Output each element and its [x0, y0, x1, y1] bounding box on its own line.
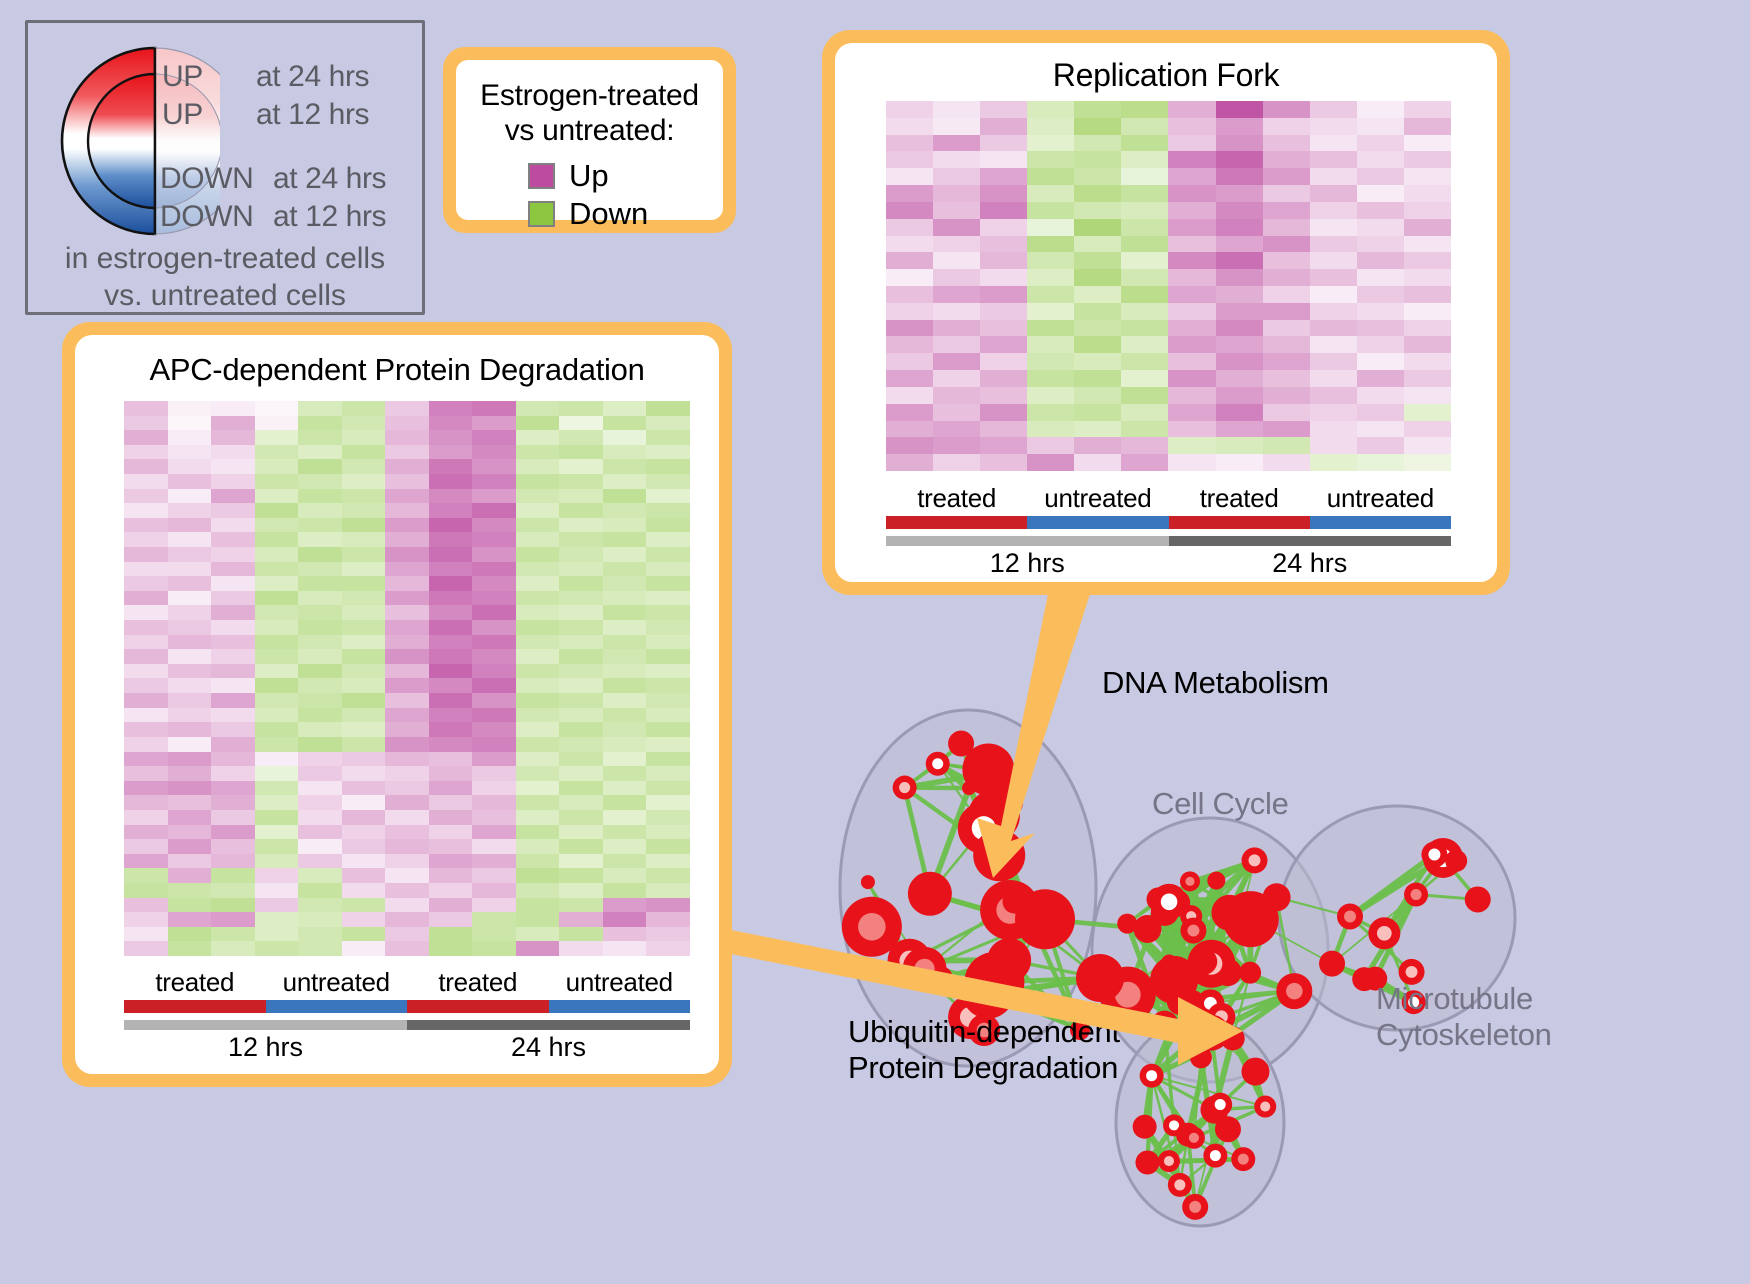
heatmap-cell	[933, 252, 980, 269]
heatmap-cell	[603, 401, 647, 416]
heatmap-cell	[1121, 387, 1168, 404]
heatmap-cell	[124, 664, 168, 679]
up-color-swatch	[528, 163, 555, 189]
heatmap-cell	[516, 737, 560, 752]
heatmap-cell	[342, 562, 386, 577]
heatmap-cell	[255, 898, 299, 913]
heatmap-cell	[933, 437, 980, 454]
heatmap-cell	[1404, 219, 1451, 236]
heatmap-cell	[124, 591, 168, 606]
heatmap-cell	[1074, 421, 1121, 438]
heatmap-cell	[603, 591, 647, 606]
heatmap-cell	[1404, 135, 1451, 152]
heatmap-cell	[124, 752, 168, 767]
heatmap-cell	[385, 532, 429, 547]
heatmap-cell	[342, 503, 386, 518]
heatmap-cell	[168, 678, 212, 693]
heatmap-cell	[429, 854, 473, 869]
heatmap-cell	[255, 912, 299, 927]
heatmap-cell	[472, 693, 516, 708]
heatmap-cell	[1216, 404, 1263, 421]
heatmap-cell	[559, 883, 603, 898]
heatmap-cell	[168, 722, 212, 737]
heatmap-cell	[1404, 437, 1451, 454]
heatmap-cell	[472, 620, 516, 635]
heatmap-cell	[472, 941, 516, 956]
heatmap-cell	[603, 766, 647, 781]
heatmap-cell	[886, 202, 933, 219]
heatmap-cell	[1027, 101, 1074, 118]
heatmap-cell	[646, 766, 690, 781]
heatmap-cell	[1216, 320, 1263, 337]
heatmap-cell	[385, 766, 429, 781]
heatmap-cell	[646, 474, 690, 489]
heatmap-cell	[298, 795, 342, 810]
heatmap-cell	[124, 401, 168, 416]
heatmap-cell	[211, 693, 255, 708]
heatmap-cell	[298, 883, 342, 898]
heatmap-cell	[1027, 202, 1074, 219]
heatmap-cell	[980, 370, 1027, 387]
heatmap-cell	[342, 664, 386, 679]
heatmap-cell	[1404, 252, 1451, 269]
network-node-core	[1187, 925, 1199, 937]
heatmap-cell	[1027, 185, 1074, 202]
network-node-core	[1185, 877, 1194, 886]
network-node-core	[932, 758, 943, 769]
heatmap-cell	[980, 303, 1027, 320]
heatmap-cell	[1310, 454, 1357, 471]
heatmap-cell	[429, 693, 473, 708]
heatmap-cell	[1263, 370, 1310, 387]
heatmap-cell	[516, 430, 560, 445]
network-node-core	[1210, 1150, 1221, 1161]
heatmap-cell	[124, 941, 168, 956]
heatmap-cell	[1404, 168, 1451, 185]
heatmap-cell	[472, 708, 516, 723]
heatmap-cell	[211, 722, 255, 737]
heatmap-cell	[1310, 252, 1357, 269]
heatmap-cell	[933, 421, 980, 438]
heatmap-cell	[472, 810, 516, 825]
heatmap-cell	[429, 752, 473, 767]
heatmap-cell	[1357, 303, 1404, 320]
heatmap-cell	[385, 416, 429, 431]
heatmap-cell	[516, 620, 560, 635]
heatmap-cell	[1404, 101, 1451, 118]
heatmap-cell	[1027, 303, 1074, 320]
timepoint-label: 24 hrs	[407, 1032, 690, 1063]
heatmap-cell	[1357, 421, 1404, 438]
heatmap-cell	[646, 883, 690, 898]
heatmap-cell	[1074, 101, 1121, 118]
heatmap-cell	[342, 635, 386, 650]
heatmap-cell	[1121, 168, 1168, 185]
heatmap-cell	[646, 708, 690, 723]
heatmap-cell	[1121, 185, 1168, 202]
heatmap-cell	[559, 562, 603, 577]
heatmap-cell	[516, 766, 560, 781]
heatmap-cell	[168, 620, 212, 635]
heatmap-cell	[603, 445, 647, 460]
colorwheel-time-up-12: at 12 hrs	[256, 98, 369, 132]
heatmap-cell	[1216, 101, 1263, 118]
heatmap-cell	[168, 430, 212, 445]
heatmap-cell	[933, 135, 980, 152]
heatmap-cell	[1404, 404, 1451, 421]
heatmap-cell	[646, 854, 690, 869]
heatmap-cell	[429, 562, 473, 577]
heatmap-cell	[342, 532, 386, 547]
heatmap-cell	[516, 503, 560, 518]
heatmap-cell	[298, 620, 342, 635]
colorwheel-label-up-24: UP	[162, 60, 203, 94]
untreated-bar-segment	[549, 1000, 691, 1013]
heatmap-cell	[168, 591, 212, 606]
network-node-core	[1286, 983, 1303, 1000]
colorwheel-time-up-24: at 24 hrs	[256, 60, 369, 94]
heatmap-cell	[1121, 320, 1168, 337]
heatmap-cell	[1357, 168, 1404, 185]
colorwheel-footer: in estrogen-treated cells vs. untreated …	[28, 241, 422, 314]
network-node-core	[858, 913, 886, 941]
network-node	[1076, 954, 1124, 1002]
heatmap-cell	[933, 286, 980, 303]
heatmap-cell	[1310, 269, 1357, 286]
heatmap-cell	[516, 649, 560, 664]
heatmap-cell	[472, 722, 516, 737]
heatmap-cell	[124, 898, 168, 913]
heatmap-cell	[1263, 236, 1310, 253]
colorwheel-footer-line2: vs. untreated cells	[28, 278, 422, 315]
heatmap-cell	[559, 620, 603, 635]
timepoint-color-bar	[886, 536, 1451, 546]
heatmap-cell	[980, 353, 1027, 370]
heatmap-cell	[342, 416, 386, 431]
heatmap-cell	[255, 518, 299, 533]
heatmap-cell	[255, 766, 299, 781]
heatmap-cell	[168, 547, 212, 562]
heatmap-cell	[1357, 252, 1404, 269]
treatment-label: untreated	[266, 967, 408, 998]
heatmap-cell	[516, 635, 560, 650]
heatmap-cell	[1404, 151, 1451, 168]
heatmap-cell	[1310, 219, 1357, 236]
heatmap-cell	[516, 781, 560, 796]
heatmap-cell	[124, 445, 168, 460]
heatmap-cell	[886, 151, 933, 168]
heatmap-cell	[559, 927, 603, 942]
heatmap-cell	[342, 620, 386, 635]
network-node-core	[1146, 1070, 1157, 1081]
network-node-core	[1260, 1101, 1270, 1111]
heatmap-cell	[1357, 118, 1404, 135]
replication-fork-heatmap	[886, 101, 1451, 471]
heatmap-cell	[1168, 353, 1215, 370]
heatmap-cell	[980, 454, 1027, 471]
heatmap-cell	[298, 401, 342, 416]
heatmap-cell	[211, 401, 255, 416]
heatmap-cell	[933, 219, 980, 236]
heatmap-cell	[516, 576, 560, 591]
heatmap-cell	[298, 941, 342, 956]
heatmap-cell	[886, 421, 933, 438]
cluster-label-cell-cycle: Cell Cycle	[1152, 786, 1289, 822]
heatmap-cell	[1216, 236, 1263, 253]
heatmap-cell	[168, 401, 212, 416]
heatmap-cell	[472, 547, 516, 562]
timepoint-labels: 12 hrs24 hrs	[124, 1032, 690, 1063]
heatmap-cell	[646, 752, 690, 767]
heatmap-cell	[255, 445, 299, 460]
heatmap-cell	[1263, 353, 1310, 370]
heatmap-cell	[472, 649, 516, 664]
heatmap-cell	[255, 591, 299, 606]
heatmap-cell	[516, 518, 560, 533]
heatmap-cell	[516, 474, 560, 489]
heatmap-cell	[1263, 118, 1310, 135]
heatmap-cell	[559, 445, 603, 460]
heatmap-cell	[646, 825, 690, 840]
heatmap-cell	[1404, 202, 1451, 219]
heatmap-cell	[1263, 269, 1310, 286]
heatmap-cell	[124, 795, 168, 810]
heatmap-cell	[298, 752, 342, 767]
heatmap-cell	[886, 437, 933, 454]
heatmap-cell	[603, 664, 647, 679]
heatmap-cell	[168, 649, 212, 664]
heatmap-cell	[1310, 185, 1357, 202]
heatmap-cell	[472, 839, 516, 854]
heatmap-cell	[1216, 353, 1263, 370]
heatmap-cell	[559, 839, 603, 854]
heatmap-cell	[646, 416, 690, 431]
timepoint-color-bar	[124, 1020, 690, 1030]
heatmap-cell	[1074, 370, 1121, 387]
heatmap-cell	[1216, 437, 1263, 454]
heatmap-cell	[1121, 135, 1168, 152]
heatmap-cell	[124, 605, 168, 620]
heatmap-cell	[124, 562, 168, 577]
heatmap-cell	[385, 649, 429, 664]
heatmap-cell	[933, 320, 980, 337]
heatmap-cell	[1168, 252, 1215, 269]
heatmap-cell	[886, 101, 933, 118]
heatmap-cell	[1216, 202, 1263, 219]
heatmap-cell	[1357, 437, 1404, 454]
heatmap-cell	[385, 883, 429, 898]
heatmap-cell	[429, 576, 473, 591]
heatmap-cell	[1263, 421, 1310, 438]
heatmap-cell	[298, 854, 342, 869]
heatmap-cell	[933, 303, 980, 320]
heatmap-cell	[168, 708, 212, 723]
heatmap-cell	[559, 605, 603, 620]
heatmap-cell	[168, 810, 212, 825]
heatmap-cell	[211, 664, 255, 679]
heatmap-cell	[516, 868, 560, 883]
treated-bar-segment	[886, 516, 1027, 529]
heatmap-cell	[603, 605, 647, 620]
treated-bar-segment	[1169, 516, 1310, 529]
heatmap-cell	[1310, 236, 1357, 253]
heatmap-cell	[1027, 404, 1074, 421]
heatmap-cell	[385, 576, 429, 591]
heatmap-cell	[255, 781, 299, 796]
heatmap-cell	[980, 320, 1027, 337]
heatmap-cell	[1357, 353, 1404, 370]
heatmap-cell	[168, 664, 212, 679]
network-node-core	[1158, 1018, 1171, 1031]
heatmap-cell	[211, 489, 255, 504]
heatmap-cell	[559, 766, 603, 781]
heatmap-cell	[886, 303, 933, 320]
replication-fork-title: Replication Fork	[835, 43, 1497, 94]
heatmap-cell	[385, 722, 429, 737]
heatmap-cell	[1263, 454, 1310, 471]
heatmap-cell	[211, 635, 255, 650]
colorwheel-label-down-24: DOWN	[160, 200, 253, 234]
heatmap-cell	[886, 404, 933, 421]
heatmap-cell	[1404, 336, 1451, 353]
heatmap-cell	[342, 576, 386, 591]
heatmap-cell	[298, 810, 342, 825]
heatmap-cell	[255, 839, 299, 854]
heatmap-cell	[472, 518, 516, 533]
heatmap-cell	[646, 503, 690, 518]
heatmap-cell	[168, 635, 212, 650]
heatmap-cell	[385, 518, 429, 533]
heatmap-cell	[429, 766, 473, 781]
heatmap-cell	[429, 825, 473, 840]
heatmap-cell	[168, 562, 212, 577]
heatmap-cell	[429, 781, 473, 796]
heatmap-cell	[385, 591, 429, 606]
heatmap-cell	[1074, 202, 1121, 219]
heatmap-cell	[1027, 252, 1074, 269]
heatmap-cell	[1168, 168, 1215, 185]
heatmap-cell	[1216, 118, 1263, 135]
heatmap-cell	[298, 474, 342, 489]
heatmap-cell	[1357, 320, 1404, 337]
heatmap-cell	[603, 576, 647, 591]
network-node	[1352, 967, 1376, 991]
heatmap-cell	[385, 839, 429, 854]
network-node-core	[1377, 926, 1392, 941]
timepoint-bar-segment	[124, 1020, 407, 1030]
heatmap-cell	[559, 912, 603, 927]
heatmap-cell	[298, 912, 342, 927]
heatmap-cell	[124, 518, 168, 533]
heatmap-cell	[342, 547, 386, 562]
heatmap-cell	[646, 941, 690, 956]
heatmap-cell	[1310, 135, 1357, 152]
heatmap-cell	[385, 941, 429, 956]
heatmap-cell	[255, 562, 299, 577]
heatmap-cell	[516, 883, 560, 898]
network-node-core	[1215, 1099, 1226, 1110]
heatmap-cell	[516, 562, 560, 577]
heatmap-cell	[980, 286, 1027, 303]
heatmap-cell	[298, 445, 342, 460]
heatmap-cell	[1263, 252, 1310, 269]
heatmap-cell	[124, 883, 168, 898]
heatmap-cell	[1168, 387, 1215, 404]
heatmap-cell	[255, 927, 299, 942]
heatmap-cell	[1310, 370, 1357, 387]
heatmap-cell	[1404, 185, 1451, 202]
heatmap-cell	[1357, 286, 1404, 303]
heatmap-cell	[1216, 454, 1263, 471]
heatmap-cell	[646, 927, 690, 942]
heatmap-cell	[1357, 219, 1404, 236]
heatmap-cell	[298, 416, 342, 431]
heatmap-cell	[124, 459, 168, 474]
legend-item-down-label: Down	[569, 198, 648, 229]
treatment-label: treated	[1169, 483, 1310, 514]
heatmap-cell	[1074, 118, 1121, 135]
heatmap-cell	[429, 605, 473, 620]
heatmap-cell	[1263, 404, 1310, 421]
heatmap-cell	[1216, 269, 1263, 286]
heatmap-cell	[255, 854, 299, 869]
heatmap-cell	[385, 445, 429, 460]
heatmap-cell	[603, 927, 647, 942]
heatmap-cell	[255, 576, 299, 591]
heatmap-cell	[298, 693, 342, 708]
heatmap-cell	[516, 708, 560, 723]
heatmap-cell	[933, 370, 980, 387]
heatmap-cell	[559, 503, 603, 518]
heatmap-cell	[298, 825, 342, 840]
heatmap-cell	[472, 532, 516, 547]
heatmap-cell	[933, 336, 980, 353]
heatmap-cell	[1168, 202, 1215, 219]
heatmap-cell	[342, 883, 386, 898]
heatmap-cell	[211, 883, 255, 898]
heatmap-cell	[1027, 219, 1074, 236]
heatmap-cell	[1263, 168, 1310, 185]
heatmap-cell	[168, 927, 212, 942]
heatmap-cell	[1263, 286, 1310, 303]
network-node	[962, 967, 1014, 1019]
legend-title-line1: Estrogen-treated	[456, 78, 723, 113]
heatmap-cell	[211, 678, 255, 693]
replication-fork-axis: treateduntreatedtreateduntreated12 hrs24…	[886, 483, 1451, 579]
heatmap-cell	[385, 898, 429, 913]
heatmap-cell	[516, 401, 560, 416]
heatmap-cell	[255, 620, 299, 635]
heatmap-cell	[1216, 252, 1263, 269]
heatmap-cell	[1263, 151, 1310, 168]
heatmap-cell	[1263, 202, 1310, 219]
heatmap-cell	[1074, 236, 1121, 253]
heatmap-cell	[298, 708, 342, 723]
network-node-core	[1406, 966, 1418, 978]
heatmap-cell	[1263, 303, 1310, 320]
heatmap-cell	[1074, 252, 1121, 269]
heatmap-cell	[429, 532, 473, 547]
heatmap-cell	[1404, 303, 1451, 320]
heatmap-cell	[603, 825, 647, 840]
heatmap-cell	[1357, 370, 1404, 387]
heatmap-cell	[472, 591, 516, 606]
heatmap-cell	[1216, 185, 1263, 202]
heatmap-cell	[603, 547, 647, 562]
heatmap-cell	[516, 693, 560, 708]
timepoint-label: 24 hrs	[1169, 548, 1452, 579]
heatmap-cell	[1074, 286, 1121, 303]
